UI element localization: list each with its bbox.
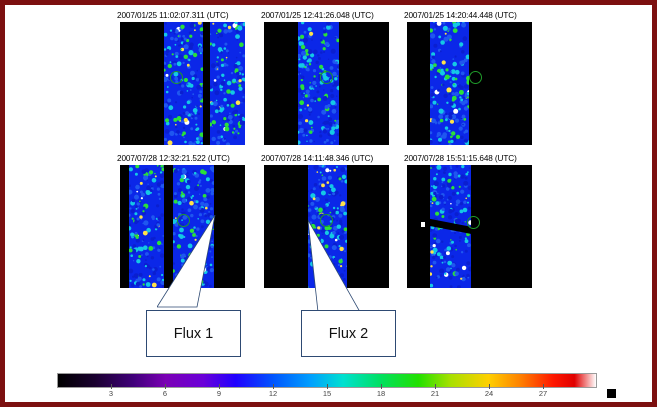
panel-2 [264, 22, 389, 145]
colorbar-label-21: 21 [431, 389, 439, 398]
colorbar-label-15: 15 [323, 389, 331, 398]
panel-6-feature-circle [467, 216, 480, 229]
figure-stage: 2007/01/25 11:02:07.311 (UTC)2007/01/25 … [5, 5, 652, 402]
colorbar-nodata-swatch [607, 389, 616, 398]
panel-6-bright-spot [421, 222, 425, 227]
panel-1-feature-circle [170, 71, 183, 84]
panel-2-swath-1 [298, 22, 339, 145]
panel-3 [407, 22, 532, 145]
panel-6 [407, 165, 532, 288]
colorbar-label-24: 24 [485, 389, 493, 398]
panel-title-3: 2007/01/25 14:20:44.448 (UTC) [404, 11, 517, 20]
colorbar-label-18: 18 [377, 389, 385, 398]
panel-2-feature-circle [320, 71, 333, 84]
panel-1 [120, 22, 245, 145]
panel-title-5: 2007/07/28 14:11:48.346 (UTC) [261, 154, 373, 163]
panel-title-4: 2007/07/28 12:32:21.522 (UTC) [117, 154, 230, 163]
figure-frame: 2007/01/25 11:02:07.311 (UTC)2007/01/25 … [0, 0, 657, 407]
panel-3-feature-circle [469, 71, 482, 84]
flux-1-leader [157, 215, 219, 310]
callout-label-flux-1: Flux 1 [174, 326, 214, 342]
colorbar-label-6: 6 [163, 389, 167, 398]
panel-title-2: 2007/01/25 12:41:26.048 (UTC) [261, 11, 374, 20]
callout-flux-1: Flux 1 [146, 310, 241, 357]
colorbar-label-27: 27 [539, 389, 547, 398]
panel-1-swath-1 [164, 22, 203, 145]
flux-2-leader [308, 220, 370, 312]
panel-title-1: 2007/01/25 11:02:07.311 (UTC) [117, 11, 229, 20]
callout-flux-2: Flux 2 [301, 310, 396, 357]
colorbar-label-12: 12 [269, 389, 277, 398]
panel-3-swath-1 [430, 22, 469, 145]
colorbar-label-3: 3 [109, 389, 113, 398]
colorbar-label-9: 9 [217, 389, 221, 398]
panel-1-swath-2 [210, 22, 245, 145]
panel-title-6: 2007/07/28 15:51:15.648 (UTC) [404, 154, 517, 163]
callout-label-flux-2: Flux 2 [329, 326, 369, 342]
